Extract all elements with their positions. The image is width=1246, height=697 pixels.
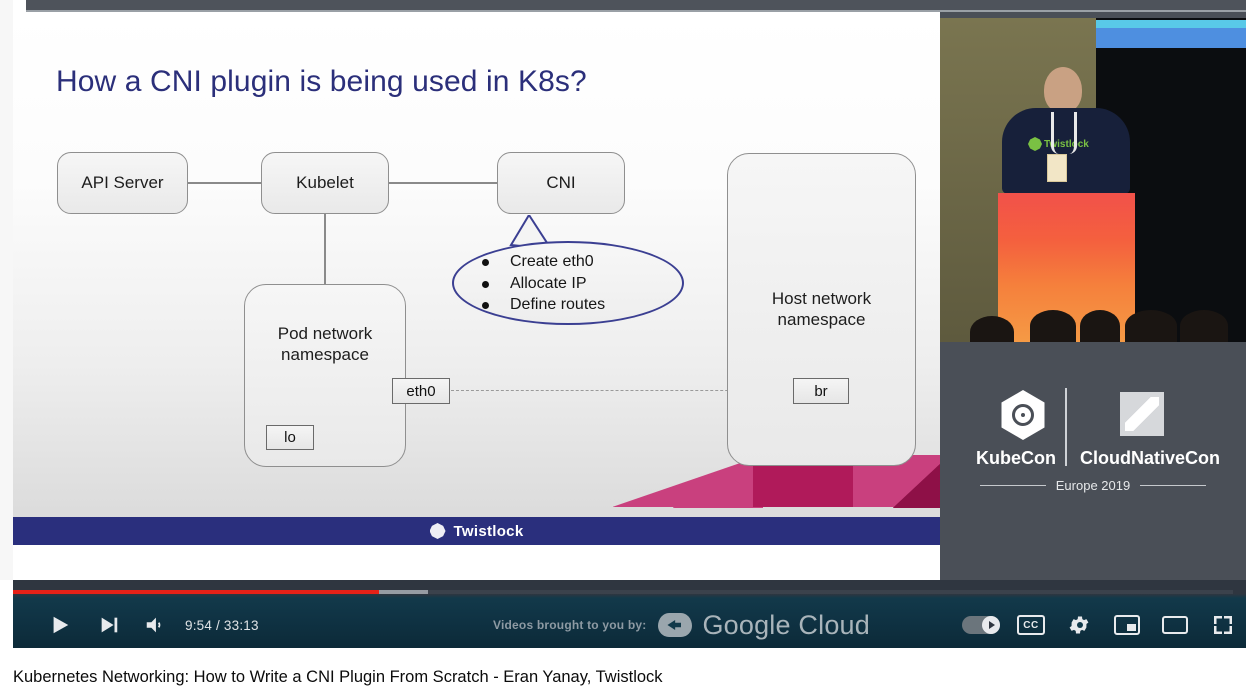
cloudnativecon-slash-icon <box>1125 397 1159 431</box>
node-label-cni: CNI <box>546 172 575 193</box>
speaker-head <box>1044 67 1082 113</box>
conference-branding: KubeCon CloudNativeCon Europe 2019 <box>940 342 1246 580</box>
connector-api-kubelet <box>188 182 262 184</box>
page-left-gutter <box>0 0 13 580</box>
autoplay-toggle[interactable] <box>953 602 1009 648</box>
theater-mode-button[interactable] <box>1151 602 1199 648</box>
pod-namespace-line-2: namespace <box>281 345 369 364</box>
google-cloud-icon <box>658 613 692 637</box>
node-label-host-namespace: Host network namespace <box>728 288 915 331</box>
callout-item-0: Create eth0 <box>474 251 674 273</box>
slide-title: How a CNI plugin is being used in K8s? <box>56 65 587 99</box>
sponsor-text: Videos brought to you by: <box>493 618 646 632</box>
stage-screen-band-cyan <box>1096 20 1246 28</box>
player-control-bar[interactable]: 9:54 / 33:13 Videos brought to you by: G… <box>13 580 1246 648</box>
diagram-node-cni: CNI <box>497 152 625 214</box>
youtube-watch-page: How a CNI plugin is being used in K8s? A… <box>0 0 1246 697</box>
audience-head <box>1080 310 1120 342</box>
cloudnativecon-label: CloudNativeCon <box>1070 448 1230 469</box>
camera-top-letterbox <box>940 12 1246 18</box>
volume-icon <box>144 614 166 636</box>
fullscreen-button[interactable] <box>1199 602 1246 648</box>
branding-divider <box>1065 388 1067 466</box>
sponsor-banner: Videos brought to you by: Google Cloud <box>493 602 870 648</box>
speaker-lanyard <box>1051 112 1077 154</box>
diagram-node-kubelet: Kubelet <box>261 152 389 214</box>
edition-rule-right <box>1140 485 1206 486</box>
autoplay-track <box>962 616 1000 634</box>
callout-item-1: Allocate IP <box>474 273 674 295</box>
speaker-badge <box>1047 154 1067 182</box>
video-player[interactable]: How a CNI plugin is being used in K8s? A… <box>13 12 1246 580</box>
audience-head <box>1125 310 1177 342</box>
miniplayer-icon <box>1114 614 1140 636</box>
google-cloud-label: Google Cloud <box>702 610 870 641</box>
play-icon <box>49 614 71 636</box>
interface-label-lo: lo <box>284 429 296 446</box>
host-namespace-line-2: namespace <box>778 310 866 329</box>
control-buttons-row: 9:54 / 33:13 Videos brought to you by: G… <box>13 602 1246 648</box>
fullscreen-icon <box>1211 613 1235 637</box>
diagram-node-api-server: API Server <box>57 152 188 214</box>
presentation-slide: How a CNI plugin is being used in K8s? A… <box>13 12 940 580</box>
audience-head <box>970 316 1014 342</box>
speaker-camera-panel: Twistlock KubeCon CloudNativeCon Europe … <box>940 12 1246 580</box>
progress-bar[interactable] <box>13 590 1233 594</box>
google-cloud-logo: Google Cloud <box>658 610 870 641</box>
kubecon-label: KubeCon <box>968 448 1064 469</box>
speaker-camera-feed: Twistlock KubeCon CloudNativeCon Europe … <box>940 12 1246 342</box>
diagram-node-host-namespace: Host network namespace <box>727 153 916 466</box>
settings-button[interactable] <box>1055 602 1103 648</box>
gear-icon <box>1067 613 1091 637</box>
captions-button[interactable]: CC <box>1007 602 1055 648</box>
host-namespace-line-1: Host network <box>772 289 871 308</box>
callout-item-2: Define routes <box>474 294 674 316</box>
play-button[interactable] <box>35 602 85 648</box>
page-top-strip <box>26 0 1246 10</box>
twistlock-logo-icon <box>430 523 446 539</box>
slide-bottom-fill <box>13 545 940 580</box>
interface-box-br: br <box>793 378 849 404</box>
twistlock-brand-label: Twistlock <box>454 523 524 540</box>
connector-kubelet-cni <box>389 182 498 184</box>
next-track-icon <box>98 614 120 636</box>
slide-footer-bar: Twistlock <box>13 517 940 545</box>
interface-label-br: br <box>814 383 827 400</box>
kubecon-helm-icon <box>1012 404 1034 426</box>
time-display: 9:54 / 33:13 <box>185 602 259 648</box>
stage-screen-band-blue <box>1096 28 1246 48</box>
pod-namespace-line-1: Pod network <box>278 324 373 343</box>
node-label-kubelet: Kubelet <box>296 172 354 193</box>
interface-box-lo: lo <box>266 425 314 450</box>
audience-head <box>1180 310 1228 342</box>
cc-icon: CC <box>1017 615 1045 635</box>
video-title[interactable]: Kubernetes Networking: How to Write a CN… <box>13 668 663 687</box>
autoplay-knob-icon <box>982 616 1000 634</box>
node-label-api-server: API Server <box>81 172 163 193</box>
interface-label-eth0: eth0 <box>406 383 435 400</box>
miniplayer-button[interactable] <box>1103 602 1151 648</box>
node-label-pod-namespace: Pod network namespace <box>245 323 405 366</box>
audience-head <box>1030 310 1076 342</box>
connector-kubelet-pod <box>324 214 326 285</box>
theater-icon <box>1162 614 1188 636</box>
interface-box-eth0: eth0 <box>392 378 450 404</box>
next-video-button[interactable] <box>85 602 133 648</box>
callout-list: Create eth0 Allocate IP Define routes <box>474 251 674 316</box>
progress-played <box>13 590 379 594</box>
volume-button[interactable] <box>131 602 179 648</box>
